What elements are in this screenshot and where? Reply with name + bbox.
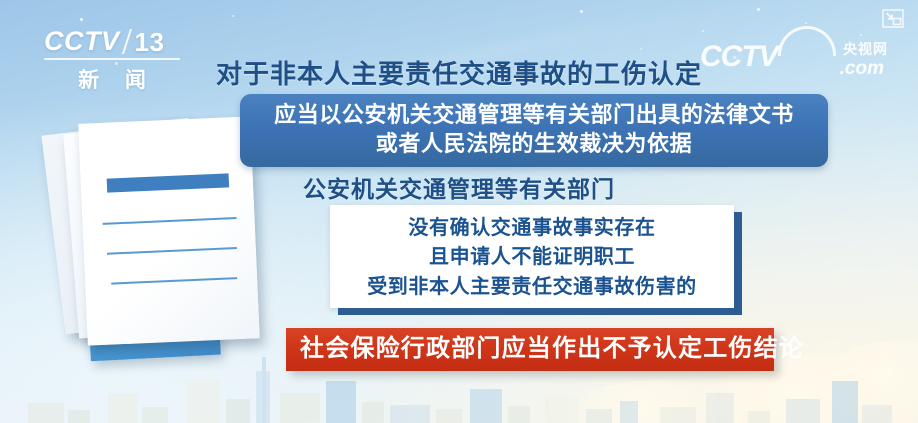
restore-window-icon[interactable] [882,9,904,28]
document-text-line [111,277,237,284]
white-card-line-3: 受到非本人主要责任交通事故伤害的 [367,273,697,301]
logo-slash-divider [121,29,131,54]
sparkle-dot [640,48,642,50]
channel-number-label: 13 [135,29,165,55]
subheading-text: 公安机关交通管理等有关部门 [0,170,918,204]
sparkle-dot [757,8,760,11]
document-sheet-front [78,116,260,345]
blue-banner: 应当以公安机关交通管理等有关部门出具的法律文书 或者人民法院的生效裁决为依据 [240,94,828,167]
document-text-line [107,247,237,255]
headline-title: 对于非本人主要责任交通事故的工伤认定 [0,54,918,91]
white-card-line-2: 且申请人不能证明职工 [429,243,635,271]
red-banner-line: 社会保险行政部门应当作出不予认定工伤结论 [300,334,760,363]
sparkle-dot [80,18,83,21]
channel-network-label: CCTV [44,28,120,55]
cloud-blob [560,380,760,423]
white-condition-card: 没有确认交通事故事实存在 且申请人不能证明职工 受到非本人主要责任交通事故伤害的 [330,205,734,308]
blue-banner-line-1: 应当以公安机关交通管理等有关部门出具的法律文书 [250,100,818,129]
cloud-blob [820,340,918,423]
white-card-line-1: 没有确认交通事故事实存在 [408,214,655,242]
broadcast-graphic-frame: CCTV 13 新 闻 CCTV 央视网 .com [0,0,918,423]
sparkle-dot [805,22,807,24]
watermark-arc-shape [778,26,836,56]
sparkle-dot [232,15,234,17]
sparkle-dot [580,10,583,13]
blue-banner-line-2: 或者人民法院的生效裁决为依据 [250,129,818,158]
red-conclusion-banner: 社会保险行政部门应当作出不予认定工伤结论 [286,328,774,371]
document-text-line [103,217,237,225]
